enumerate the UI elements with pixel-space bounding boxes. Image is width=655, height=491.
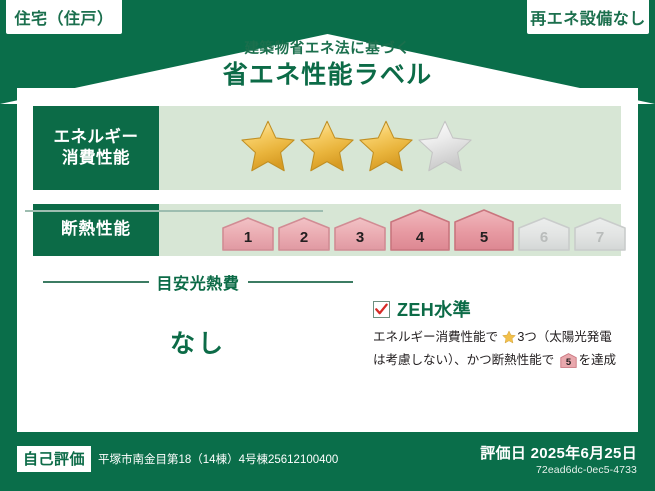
- star-icon-empty: [416, 118, 474, 179]
- label-footer: 自己評価 平塚市南金目第18（14棟）4号棟25612100400 評価日 20…: [0, 432, 655, 491]
- label-subtitle: 建築物省エネ法に基づく: [0, 42, 655, 58]
- insulation-house-empty: 6: [517, 217, 571, 251]
- zeh-heading: ZEH水準: [373, 296, 625, 322]
- utility-cost-heading: 目安光熱費: [43, 270, 353, 294]
- metric-row-energy-consumption: エネルギー 消費性能: [33, 106, 621, 190]
- insulation-house-empty: 7: [573, 217, 627, 251]
- inline-house-badge: 5: [556, 357, 576, 371]
- metric-label-energy-line1: エネルギー: [54, 127, 139, 148]
- insulation-level-scale: 1234567: [221, 209, 627, 251]
- title-block: 建築物省エネ法に基づく 省エネ性能ラベル: [0, 42, 655, 90]
- star-rating: [239, 118, 474, 179]
- rule-left: [43, 281, 149, 283]
- star-icon-filled: [298, 118, 356, 179]
- zeh-desc-part3: を達成: [579, 353, 616, 367]
- metric-row-insulation: 断熱性能 1234567: [33, 204, 621, 256]
- star-icon-filled: [357, 118, 415, 179]
- zeh-description: エネルギー消費性能で 3つ（太陽光発電 は考慮しない）、かつ断熱性能で 5 を達…: [373, 328, 625, 374]
- metric-label-energy-line2: 消費性能: [62, 148, 130, 169]
- insulation-house-filled: 1: [221, 217, 275, 251]
- insulation-house-filled: 5: [453, 209, 515, 251]
- utility-cost-underline: [25, 210, 323, 212]
- check-icon: [375, 303, 388, 316]
- tag-building-type-label: 住宅（住戸）: [14, 5, 113, 29]
- tag-renewable-energy-label: 再エネ設備なし: [530, 5, 646, 29]
- label-body-card: エネルギー 消費性能 断熱性能 1234567 目安光熱費 なし: [17, 88, 638, 432]
- utility-cost-title: 目安光熱費: [157, 270, 240, 294]
- utility-cost-section: 目安光熱費 なし: [43, 270, 353, 360]
- insulation-house-filled: 4: [389, 209, 451, 251]
- metric-value-insulation: 1234567: [159, 204, 627, 256]
- metric-label-energy-consumption: エネルギー 消費性能: [33, 106, 159, 190]
- zeh-desc-star-count: 3つ（太陽光発電: [517, 330, 611, 344]
- zeh-checkbox: [373, 301, 390, 318]
- tag-renewable-energy: 再エネ設備なし: [527, 0, 649, 34]
- utility-cost-value: なし: [43, 324, 353, 360]
- zeh-desc-part1: エネルギー消費性能で: [373, 330, 498, 344]
- metric-label-insulation: 断熱性能: [33, 204, 159, 256]
- metric-label-insulation-line1: 断熱性能: [61, 219, 131, 240]
- insulation-house-filled: 3: [333, 217, 387, 251]
- zeh-standard-block: ZEH水準 エネルギー消費性能で 3つ（太陽光発電 は考慮しない）、かつ断熱性能…: [373, 296, 625, 374]
- insulation-house-filled: 2: [277, 217, 331, 251]
- rule-right: [248, 281, 354, 283]
- tag-building-type: 住宅（住戸）: [6, 0, 122, 34]
- inline-house-badge-number: 5: [565, 357, 571, 368]
- zeh-title: ZEH水準: [397, 296, 471, 322]
- evaluation-id: 72ead6dc-0ec5-4733: [536, 464, 637, 476]
- evaluation-date: 評価日 2025年6月25日: [480, 442, 637, 463]
- property-address: 平塚市南金目第18（14棟）4号棟25612100400: [98, 451, 338, 467]
- inline-star-icon: [499, 333, 516, 347]
- zeh-desc-part2: は考慮しない）、かつ断熱性能で: [373, 353, 554, 367]
- star-icon-filled: [239, 118, 297, 179]
- label-title: 省エネ性能ラベル: [0, 61, 655, 90]
- energy-performance-label: 住宅（住戸） 再エネ設備なし 建築物省エネ法に基づく 省エネ性能ラベル エネルギ…: [0, 0, 655, 491]
- self-evaluation-badge: 自己評価: [17, 446, 91, 472]
- metric-value-energy-consumption: [159, 106, 621, 190]
